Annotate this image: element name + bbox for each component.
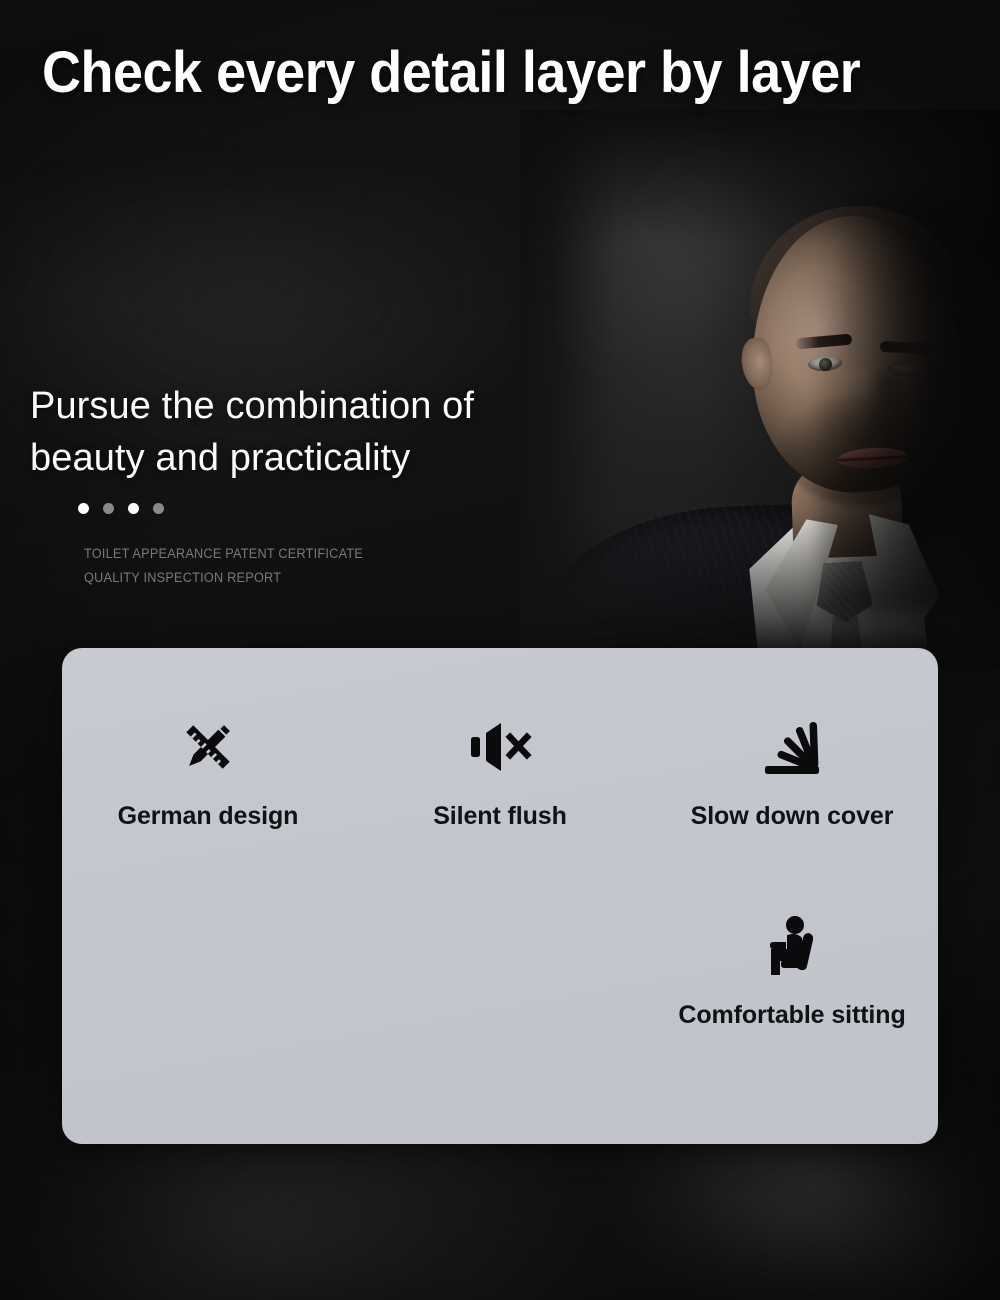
pagination-dot-1[interactable] — [78, 503, 89, 514]
feature-label: Silent flush — [433, 802, 567, 831]
feature-silent-flush[interactable]: Silent flush — [354, 710, 646, 831]
feature-label: Comfortable sitting — [678, 1001, 905, 1030]
seated-person-icon — [759, 909, 825, 983]
slow-close-cover-icon — [757, 710, 827, 784]
pencil-ruler-icon — [175, 710, 241, 784]
feature-german-design[interactable]: German design — [62, 710, 354, 831]
subtitle-block: Pursue the combination of beauty and pra… — [30, 380, 650, 485]
subtitle-line-2: beauty and practicality — [30, 432, 650, 484]
pagination-dot-3[interactable] — [128, 503, 139, 514]
pagination-dot-4[interactable] — [153, 503, 164, 514]
feature-comfortable-sitting[interactable]: Comfortable sitting — [646, 909, 938, 1030]
pagination-dots[interactable] — [78, 503, 164, 514]
feature-label: German design — [118, 802, 299, 831]
certificate-captions: TOILET APPEARANCE PATENT CERTIFICATE QUA… — [84, 542, 363, 589]
feature-slow-down-cover[interactable]: Slow down cover — [646, 710, 938, 831]
page-headline: Check every detail layer by layer — [42, 44, 907, 102]
muted-speaker-icon — [467, 710, 533, 784]
subtitle-line-1: Pursue the combination of — [30, 380, 650, 432]
pagination-dot-2[interactable] — [103, 503, 114, 514]
features-grid: German design Silent flush — [62, 710, 938, 1030]
promo-page: Check every detail layer by layer Pursue… — [0, 0, 1000, 1300]
feature-label: Slow down cover — [691, 802, 894, 831]
caption-line-2: QUALITY INSPECTION REPORT — [84, 566, 363, 590]
features-card: German design Silent flush — [62, 648, 938, 1144]
caption-line-1: TOILET APPEARANCE PATENT CERTIFICATE — [84, 542, 363, 566]
